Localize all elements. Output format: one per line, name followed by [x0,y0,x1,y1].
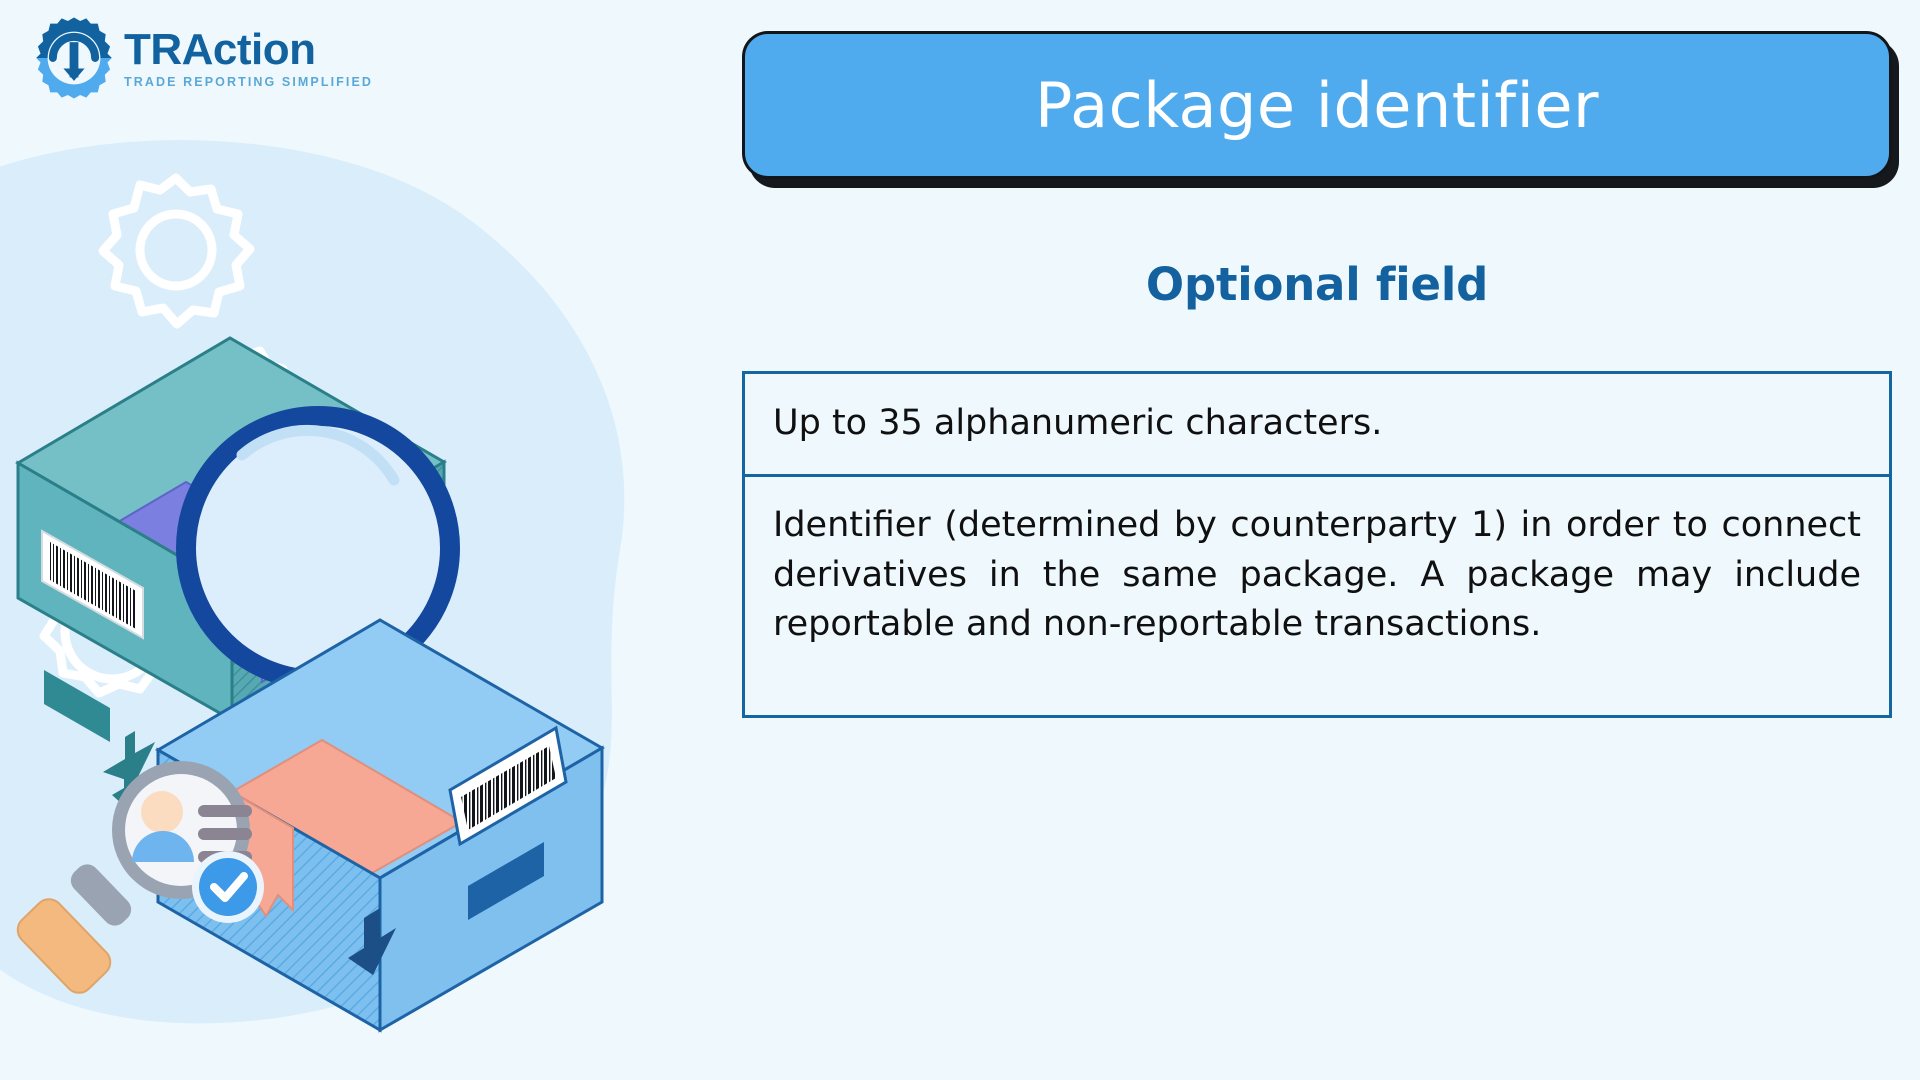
info-box-length-rule-text: Up to 35 alphanumeric characters. [773,399,1382,449]
info-box-length-rule: Up to 35 alphanumeric characters. [742,371,1892,477]
poster-canvas: TRAction TRADE REPORTING SIMPLIFIED Pack… [0,0,1920,1080]
info-box-definition: Identifier (determined by counterparty 1… [742,477,1892,718]
teal-box-with-purple-tape [18,338,444,812]
gear-arrow-logo-icon [30,14,118,102]
field-requirement-heading: Optional field [742,258,1892,311]
magnifier-large [186,416,506,853]
logo-word-tr: TR [124,25,182,74]
barcode-label [42,531,143,638]
barcode-label [450,728,566,844]
logo-wordmark: TRAction [124,28,373,72]
info-box-stack: Up to 35 alphanumeric characters. Identi… [742,371,1892,718]
magnifier-profile [12,761,264,999]
background-blob-decoration [0,100,750,1050]
page-title-banner: Package identifier [742,31,1892,179]
gear-outline-decoration [44,178,291,693]
check-badge [192,851,264,923]
packages-with-magnifiers-illustration [0,150,740,1080]
logo-word-action: Action [182,25,316,74]
info-box-definition-text: Identifier (determined by counterparty 1… [773,501,1861,650]
logo-tagline: TRADE REPORTING SIMPLIFIED [124,76,373,89]
blue-box-with-salmon-tape [158,620,602,1030]
page-title: Package identifier [1035,69,1599,142]
brand-logo[interactable]: TRAction TRADE REPORTING SIMPLIFIED [30,12,360,104]
